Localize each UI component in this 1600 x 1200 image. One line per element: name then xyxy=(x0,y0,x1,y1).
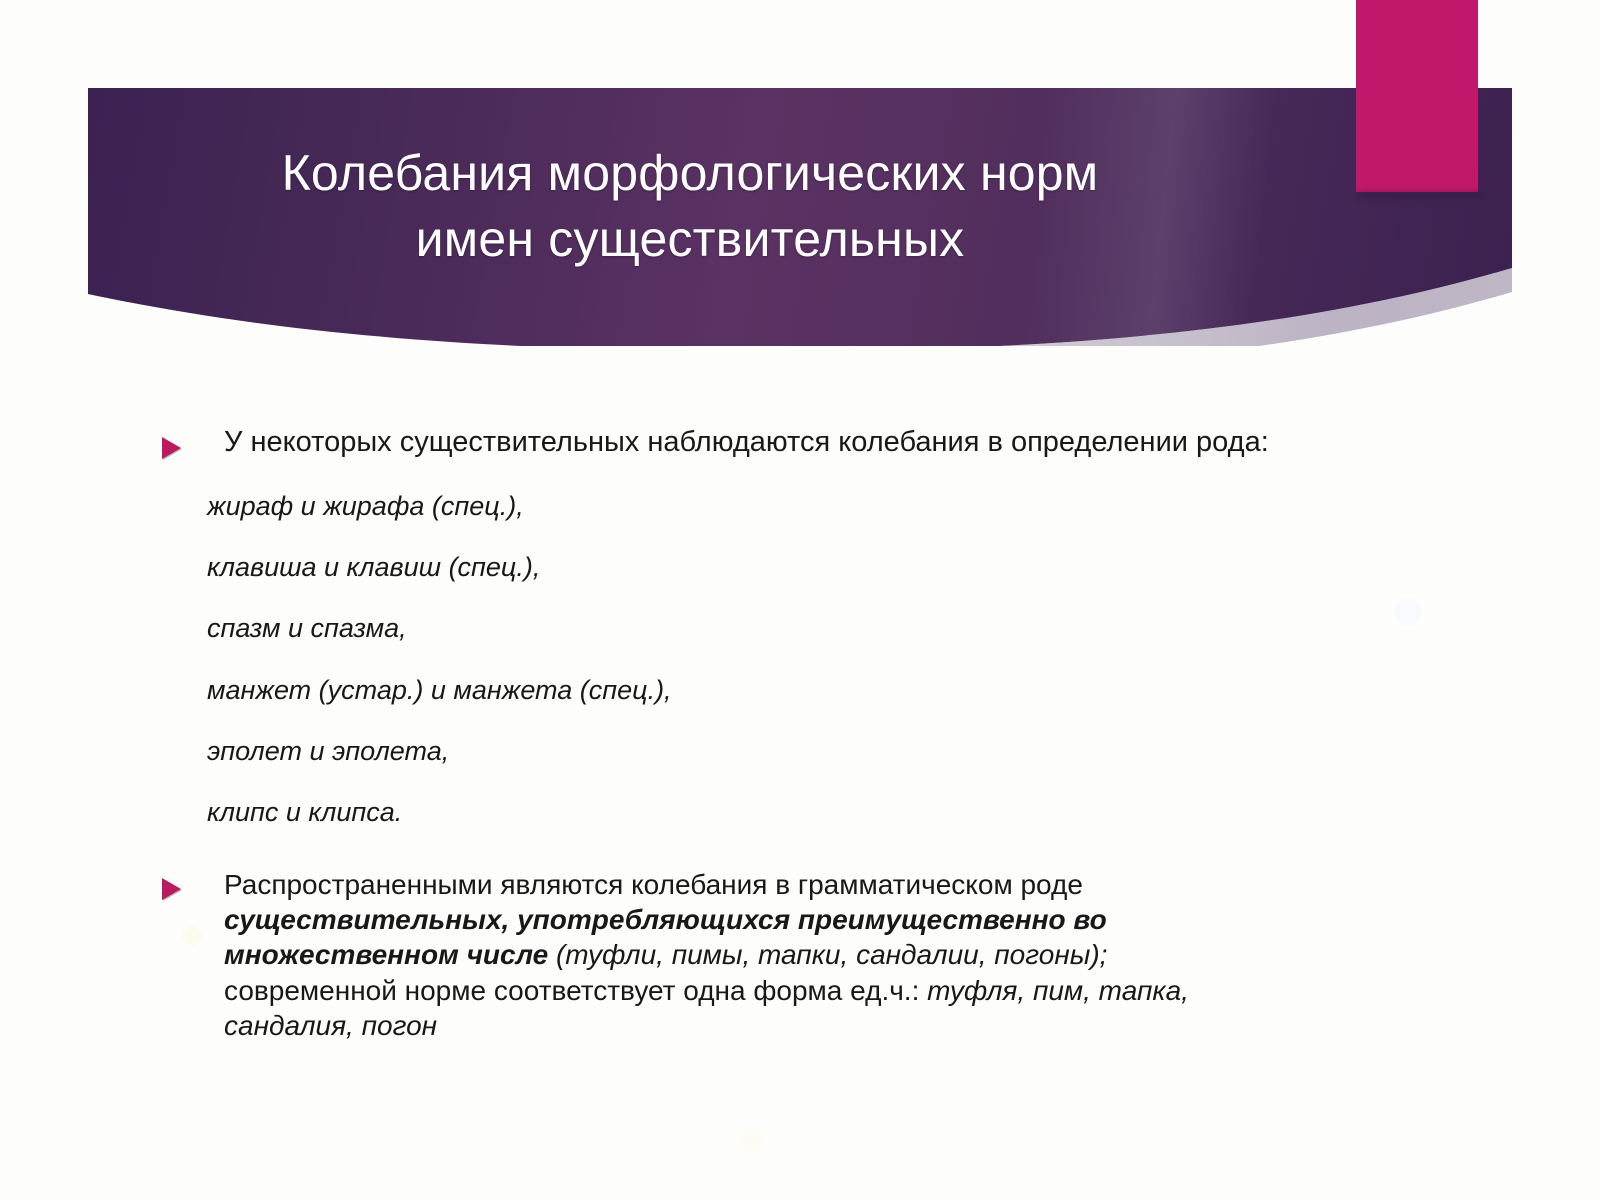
bullet-item-1-text: У некоторых существительных наблюдаются … xyxy=(224,424,1270,461)
bullet-2-examples: (туфли, пимы, тапки, сандалии, погоны); xyxy=(548,939,1107,970)
bullet-item-2: Распространенными являются колебания в г… xyxy=(0,867,1600,1043)
slide-body: У некоторых существительных наблюдаются … xyxy=(0,424,1600,1047)
slide-title: Колебания морфологических норм имен суще… xyxy=(150,140,1230,272)
term-list: жираф и жирафа (спец.), клавиша и клавиш… xyxy=(0,490,1600,829)
slide-title-line-1: Колебания морфологических норм xyxy=(150,140,1230,206)
triangle-right-bullet-icon xyxy=(162,437,181,459)
accent-rectangle-icon xyxy=(1356,0,1478,192)
term-list-item: эполет и эполета, xyxy=(0,735,1600,767)
triangle-right-bullet-icon xyxy=(162,878,181,900)
term-list-item: жираф и жирафа (спец.), xyxy=(0,490,1600,522)
slide-title-line-2: имен существительных xyxy=(150,206,1230,272)
presentation-slide: Колебания морфологических норм имен суще… xyxy=(0,0,1600,1200)
term-list-item: манжет (устар.) и манжета (спец.), xyxy=(0,674,1600,706)
bullet-2-prefix: Распространенными являются колебания в г… xyxy=(224,869,1083,900)
term-list-item: клипс и клипса. xyxy=(0,796,1600,828)
bullet-2-tail: современной норме соответствует одна фор… xyxy=(224,975,919,1006)
bullet-item-1: У некоторых существительных наблюдаются … xyxy=(0,424,1600,461)
term-list-item: клавиша и клавиш (спец.), xyxy=(0,551,1600,583)
term-list-item: спазм и спазма, xyxy=(0,612,1600,644)
bullet-item-2-text: Распространенными являются колебания в г… xyxy=(224,867,1300,1043)
